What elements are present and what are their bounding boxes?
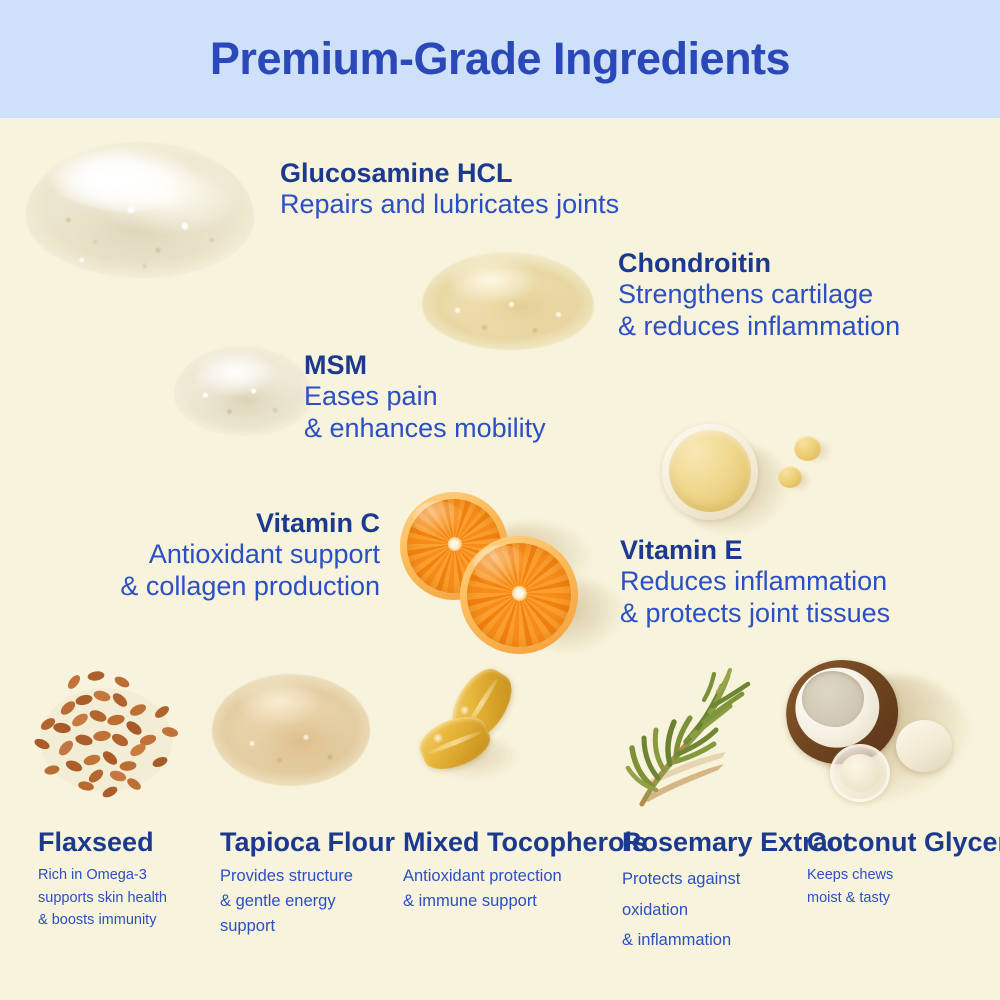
ingredient-name: Vitamin E xyxy=(620,535,890,565)
flaxseed-svg xyxy=(22,666,190,802)
ingredient-description: Eases pain & enhances mobility xyxy=(304,381,546,444)
ingredient-flaxseed: Flaxseed Rich in Omega-3 supports skin h… xyxy=(38,827,167,932)
pale-yellow-powder-pile-icon xyxy=(418,246,598,356)
ingredient-name: Coconut Glycerin xyxy=(807,827,1000,858)
ingredient-description: Rich in Omega-3 supports skin health & b… xyxy=(38,864,167,931)
ingredient-name: Flaxseed xyxy=(38,827,167,858)
orange-halves-icon xyxy=(398,488,613,658)
ingredient-name: Chondroitin xyxy=(618,248,900,278)
ingredient-coconut-glycerin: Coconut Glycerin Keeps chews moist & tas… xyxy=(807,827,1000,909)
ingredient-description: Keeps chews moist & tasty xyxy=(807,864,1000,909)
ingredient-description: Antioxidant protection & immune support xyxy=(403,864,647,914)
tan-powder-pile-icon xyxy=(208,670,373,790)
ingredient-name: MSM xyxy=(304,350,546,380)
rosemary-sprig-icon xyxy=(612,666,782,816)
golden-softgel-capsules-icon xyxy=(418,680,538,790)
ingredient-name: Mixed Tocopherols xyxy=(403,827,647,858)
ingredient-name: Glucosamine HCL xyxy=(280,158,619,188)
ingredient-name: Tapioca Flour xyxy=(220,827,395,858)
header-banner: Premium-Grade Ingredients xyxy=(0,0,1000,118)
ingredients-canvas: Glucosamine HCL Repairs and lubricates j… xyxy=(0,118,1000,1000)
ingredient-mixed-tocopherols: Mixed Tocopherols Antioxidant protection… xyxy=(403,827,647,914)
ingredient-description: Antioxidant support & collagen productio… xyxy=(120,539,380,602)
ingredient-chondroitin: Chondroitin Strengthens cartilage & redu… xyxy=(618,248,900,342)
ingredient-name: Vitamin C xyxy=(120,508,380,538)
page-title: Premium-Grade Ingredients xyxy=(210,33,790,85)
ingredient-description: Repairs and lubricates joints xyxy=(280,189,619,221)
flaxseed-pile-icon xyxy=(22,666,190,802)
white-crystalline-powder-pile-icon xyxy=(168,340,318,442)
ingredient-vitamin-e: Vitamin E Reduces inflammation & protect… xyxy=(620,535,890,629)
ingredient-glucosamine-hcl: Glucosamine HCL Repairs and lubricates j… xyxy=(280,158,619,221)
ingredient-description: Strengthens cartilage & reduces inflamma… xyxy=(618,279,900,342)
ingredient-description: Reduces inflammation & protects joint ti… xyxy=(620,566,890,629)
ingredient-vitamin-c: Vitamin C Antioxidant support & collagen… xyxy=(120,508,380,602)
oil-bowl-with-droplets-icon xyxy=(652,416,842,538)
rosemary-svg xyxy=(612,666,782,816)
ingredient-description: Provides structure & gentle energy suppo… xyxy=(220,864,395,939)
white-powder-pile-icon xyxy=(18,136,263,284)
ingredient-tapioca-flour: Tapioca Flour Provides structure & gentl… xyxy=(220,827,395,940)
ingredient-msm: MSM Eases pain & enhances mobility xyxy=(304,350,546,444)
coconut-half-with-jar-icon xyxy=(784,658,996,818)
